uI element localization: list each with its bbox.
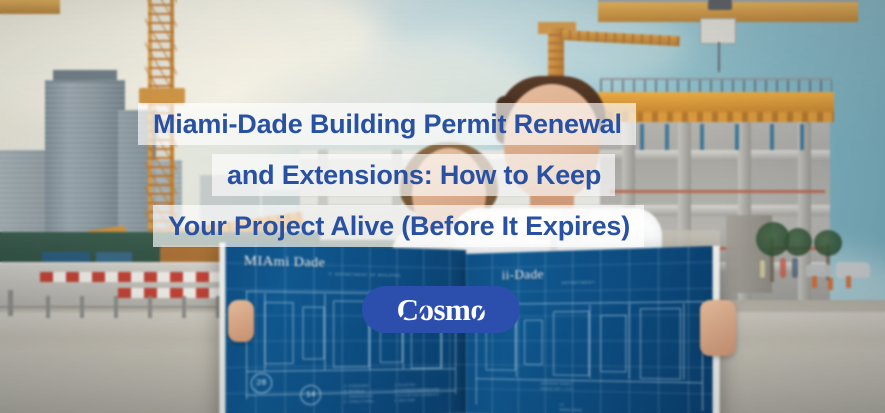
cosmo-logo[interactable]: Cosmo	[362, 286, 520, 333]
hero-banner: MIAmi Dade P. DEPARTMENT OF BUILDING 28 …	[0, 0, 885, 413]
title-line-2: and Extensions: How to Keep	[212, 154, 615, 196]
title-line-3: Your Project Alive (Before It Expires)	[153, 205, 644, 247]
hero-title: Miami-Dade Building Permit Renewal and E…	[0, 0, 885, 413]
title-line-1: Miami-Dade Building Permit Renewal	[138, 103, 636, 145]
